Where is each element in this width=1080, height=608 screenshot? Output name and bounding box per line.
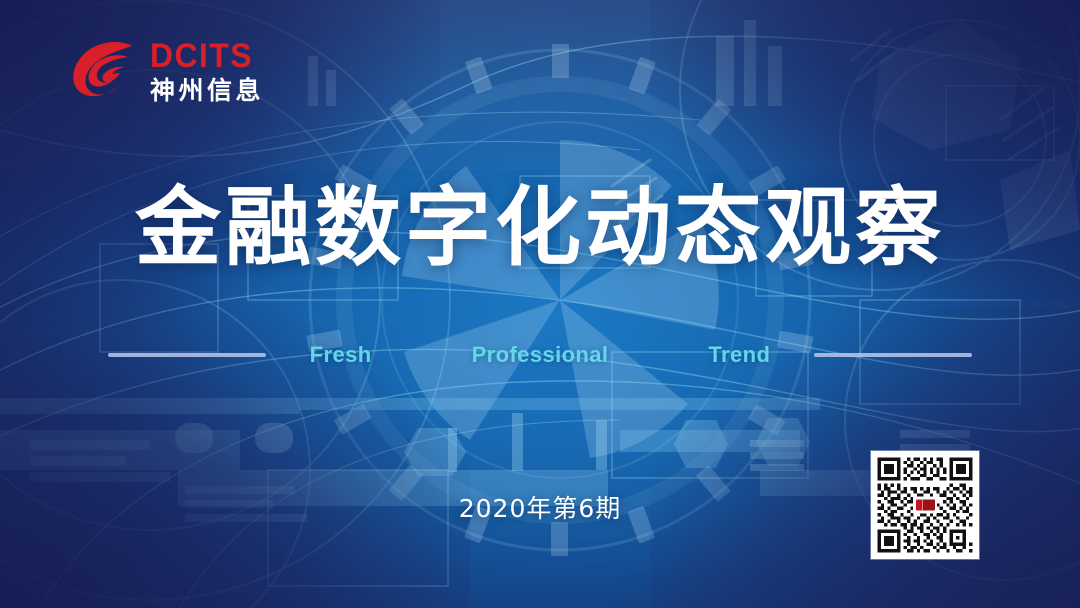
brand-name-cn: 神州信息 [150, 78, 264, 103]
keyword-fresh: Fresh [310, 342, 372, 368]
dcits-logo-icon [916, 500, 935, 511]
brand-name-en: DCITS [150, 39, 257, 73]
qr-code[interactable] [871, 451, 979, 559]
keyword-trend: Trend [708, 342, 770, 368]
keyword-professional: Professional [472, 342, 609, 368]
dcits-swirl-icon [68, 37, 140, 105]
brand-logo: DCITS 神州信息 [68, 30, 298, 112]
cover-slide: DCITS 神州信息 金融数字化动态观察 Fresh Professional … [0, 0, 1080, 608]
page-title: 金融数字化动态观察 [0, 182, 1080, 275]
keyword-rule-right [814, 353, 972, 357]
qr-center-logo [913, 497, 937, 514]
brand-logo-text: DCITS 神州信息 [150, 39, 264, 103]
keyword-strip: Fresh Professional Trend [0, 340, 1080, 370]
keyword-rule-left [108, 353, 266, 357]
